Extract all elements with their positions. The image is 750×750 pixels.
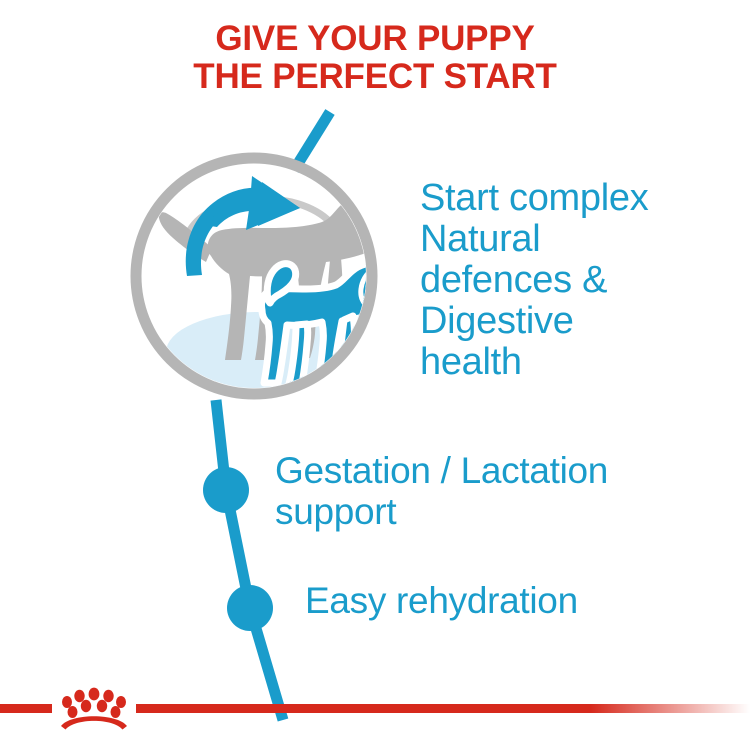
- circle-ring: [136, 158, 372, 394]
- footer-brand-bar: [0, 697, 750, 719]
- connector-dot-2: [227, 585, 273, 631]
- benefit-1-line-4: Digestive: [420, 301, 750, 342]
- footer-bar-right-segment: [136, 704, 750, 713]
- poster-canvas: GIVE YOUR PUPPY THE PERFECT START: [0, 0, 750, 750]
- benefit-1-line-5: health: [420, 342, 750, 383]
- connector-dot-1: [203, 467, 249, 513]
- benefit-start-complex: Start complex Natural defences & Digesti…: [420, 178, 750, 383]
- page-title: GIVE YOUR PUPPY THE PERFECT START: [0, 20, 750, 96]
- growth-arrow-icon: [186, 176, 300, 276]
- decorative-arc: [190, 199, 330, 230]
- puppy-silhouette: [261, 263, 392, 384]
- footer-bar-left-segment: [0, 704, 52, 713]
- connector-path: [216, 112, 330, 720]
- adult-dog-silhouette: [159, 196, 400, 360]
- benefit-2-line-2: support: [275, 491, 750, 532]
- benefit-1-line-2: Natural: [420, 219, 750, 260]
- benefit-easy-rehydration: Easy rehydration: [305, 580, 750, 621]
- connector-segment-top: [294, 112, 330, 170]
- connector-segment-bottom: [216, 400, 283, 720]
- benefit-3-line-1: Easy rehydration: [305, 580, 750, 621]
- page-title-line-2: THE PERFECT START: [0, 58, 750, 96]
- circle-contents: [159, 176, 400, 392]
- benefit-2-line-1: Gestation / Lactation: [275, 450, 750, 491]
- royal-canin-crown-logo: [52, 685, 136, 731]
- ground-ellipse: [166, 312, 350, 392]
- page-title-line-1: GIVE YOUR PUPPY: [0, 20, 750, 58]
- benefit-1-line-3: defences &: [420, 260, 750, 301]
- benefit-gestation-lactation: Gestation / Lactation support: [275, 450, 750, 532]
- benefit-1-line-1: Start complex: [420, 178, 750, 219]
